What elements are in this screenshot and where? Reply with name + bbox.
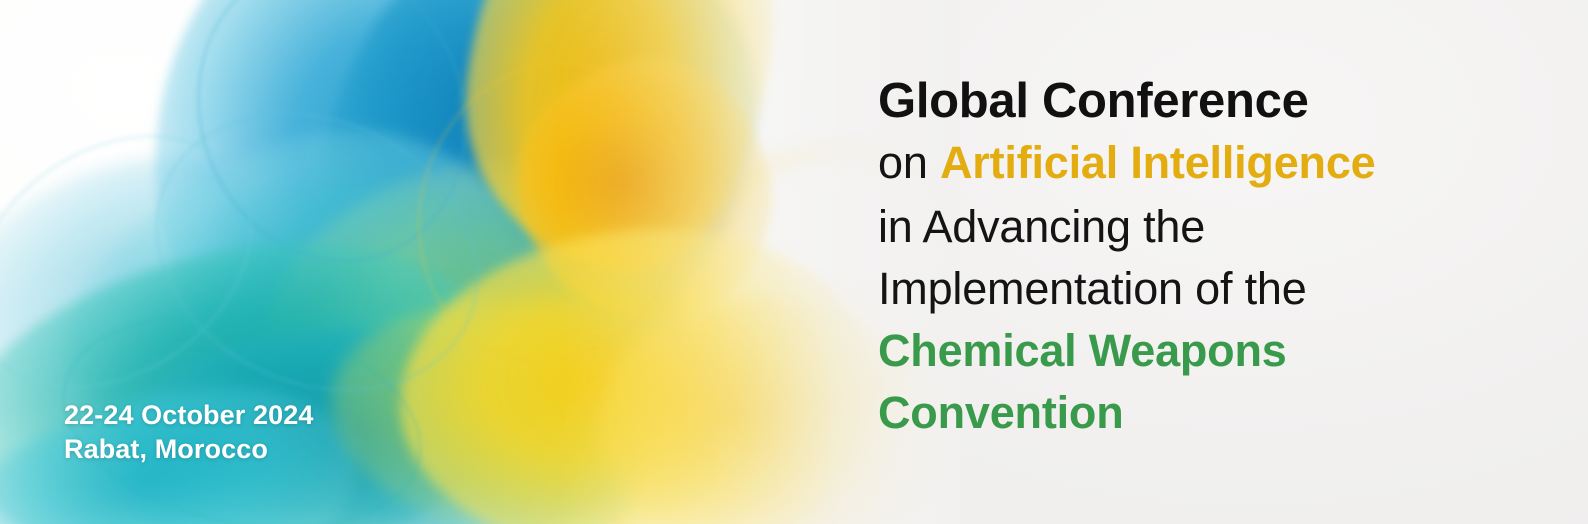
event-location: Rabat, Morocco [64,432,313,466]
title-word-on: on [878,137,940,188]
title-highlight-artificial-intelligence: Artificial Intelligence [940,137,1376,188]
conference-title-block: Global Conference on Artificial Intellig… [878,72,1568,444]
event-dates: 22-24 October 2024 [64,398,313,432]
title-line-implementation-of-the: Implementation of the [878,258,1568,320]
title-line-artificial-intelligence: on Artificial Intelligence [878,130,1568,196]
title-line-global-conference: Global Conference [878,72,1568,130]
event-details: 22-24 October 2024 Rabat, Morocco [64,398,313,466]
title-line-in-advancing-the: in Advancing the [878,196,1568,258]
title-line-chemical-weapons: Chemical Weapons [878,320,1568,382]
title-line-convention: Convention [878,382,1568,444]
conference-banner: 22-24 October 2024 Rabat, Morocco Global… [0,0,1588,524]
